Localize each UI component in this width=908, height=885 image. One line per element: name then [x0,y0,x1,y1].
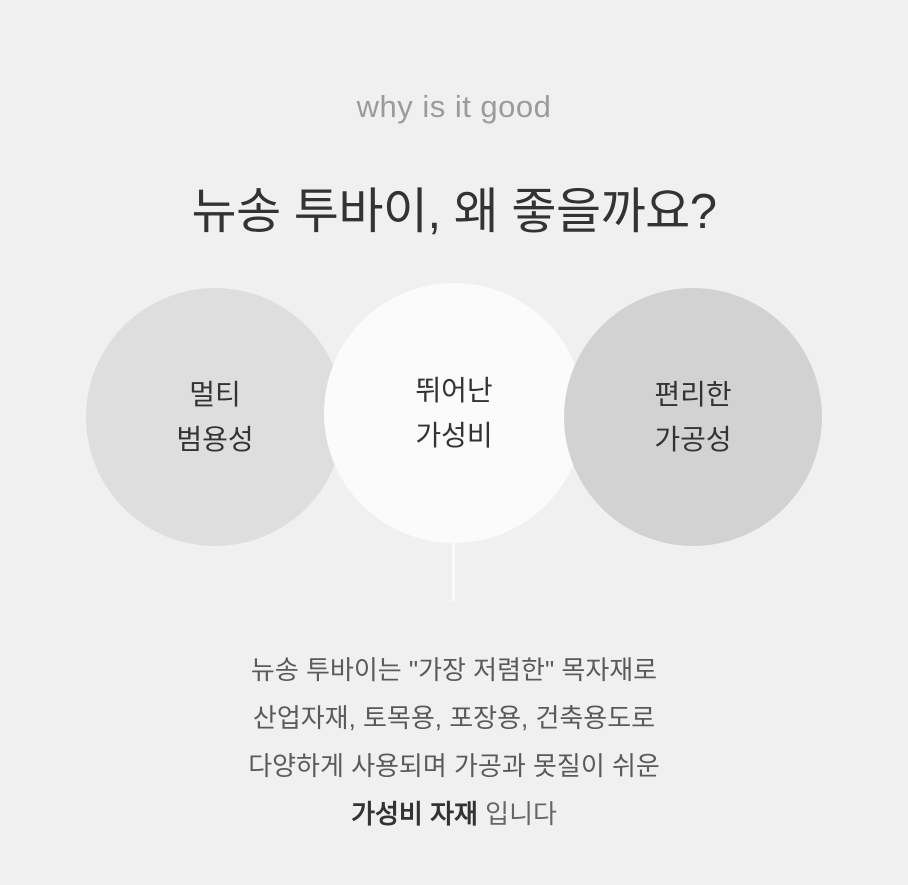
benefit-circle-multi-versatility: 멀티 범용성 [86,288,344,546]
description-line-2: 산업자재, 토목용, 포장용, 건축용도로 [0,694,908,742]
benefit-label-line1: 멀티 [189,372,241,417]
benefit-circle-convenient-processing: 편리한 가공성 [564,288,822,546]
benefit-label-line2: 범용성 [176,417,253,462]
description-text: 뉴송 투바이는 "가장 저렴한" 목자재로 산업자재, 토목용, 포장용, 건축… [0,646,908,838]
benefit-circle-outstanding-value: 뛰어난 가성비 [324,283,584,543]
description-line-4: 가성비 자재 입니다 [0,790,908,838]
benefit-label-line1: 편리한 [654,372,731,417]
description-highlight: 가성비 자재 [351,799,478,829]
description-line-1: 뉴송 투바이는 "가장 저렴한" 목자재로 [0,646,908,694]
description-line-3: 다양하게 사용되며 가공과 못질이 쉬운 [0,742,908,790]
benefit-label-line2: 가공성 [654,417,731,462]
section-eyebrow: why is it good [0,88,908,127]
connector-line [452,543,455,601]
benefit-label-line2: 가성비 [415,413,492,458]
page-title: 뉴송 투바이, 왜 좋을까요? [0,181,908,245]
promo-page: why is it good 뉴송 투바이, 왜 좋을까요? 멀티 범용성 뛰어… [0,0,908,885]
benefit-label-line1: 뛰어난 [415,368,492,413]
benefit-circle-group: 멀티 범용성 뛰어난 가성비 편리한 가공성 [0,283,908,545]
description-line-4-tail: 입니다 [478,799,557,829]
